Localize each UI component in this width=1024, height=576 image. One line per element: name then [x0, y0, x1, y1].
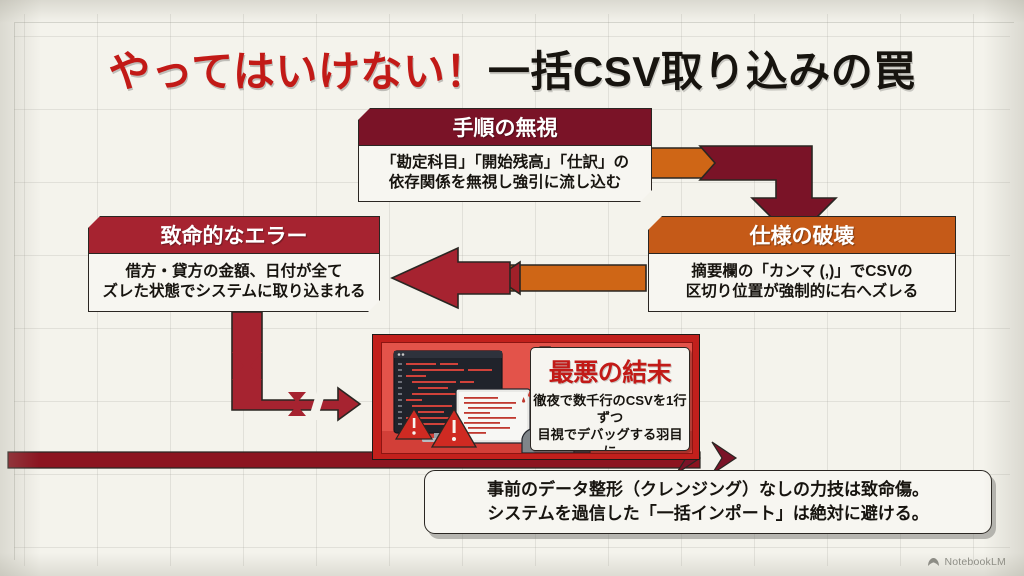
step-card-1-body: 「勘定科目」「開始残高」「仕訳」の 依存関係を無視し強引に流し込む: [359, 146, 651, 200]
summary-line2: システムを過信した「一括インポート」は絶対に避ける。: [487, 502, 929, 526]
infographic-canvas: やってはいけない！一括CSV取り込みの罠 手: [0, 0, 1024, 576]
notebooklm-watermark: NotebookLM: [927, 556, 1006, 568]
step-card-2-body-line1: 摘要欄の「カンマ (,)」でCSVの: [686, 262, 919, 282]
notebooklm-watermark-label: NotebookLM: [944, 556, 1006, 568]
step-card-2-body: 摘要欄の「カンマ (,)」でCSVの 区切り位置が強制的に右へズレる: [649, 254, 955, 310]
step-card-1-header: 手順の無視: [359, 109, 651, 146]
outcome-panel: 最悪の結末 徹夜で数千行のCSVを1行ずつ 目視でデバッグする羽目に: [372, 334, 700, 460]
page-title: やってはいけない！一括CSV取り込みの罠: [0, 38, 1024, 99]
panel-inner: 最悪の結末 徹夜で数千行のCSVを1行ずつ 目視でデバッグする羽目に: [381, 342, 693, 454]
outcome-title: 最悪の結末: [531, 353, 689, 389]
step-card-2: 仕様の破壊 摘要欄の「カンマ (,)」でCSVの 区切り位置が強制的に右へズレる: [648, 216, 956, 312]
outcome-line2: 目視でデバッグする羽目に: [531, 426, 689, 451]
step-card-3-header: 致命的なエラー: [89, 217, 379, 254]
step-card-1-body-line2: 依存関係を無視し強引に流し込む: [381, 173, 629, 193]
outcome-line1: 徹夜で数千行のCSVを1行ずつ: [531, 392, 689, 426]
step-card-3-body: 借方・貸方の金額、日付が全て ズレた状態でシステムに取り込まれる: [89, 254, 379, 310]
step-card-1: 手順の無視 「勘定科目」「開始残高」「仕訳」の 依存関係を無視し強引に流し込む: [358, 108, 652, 202]
page-title-red: やってはいけない！: [108, 48, 488, 95]
step-card-3-body-line2: ズレた状態でシステムに取り込まれる: [102, 282, 365, 302]
step-card-2-header: 仕様の破壊: [649, 217, 955, 254]
summary-line1: 事前のデータ整形（クレンジング）なしの力技は致命傷。: [487, 478, 929, 502]
outcome-callout: 最悪の結末 徹夜で数千行のCSVを1行ずつ 目視でデバッグする羽目に: [530, 347, 690, 451]
step-card-1-body-line1: 「勘定科目」「開始残高」「仕訳」の: [381, 153, 629, 173]
step-card-3-body-line1: 借方・貸方の金額、日付が全て: [102, 262, 365, 282]
step-card-3: 致命的なエラー 借方・貸方の金額、日付が全て ズレた状態でシステムに取り込まれる: [88, 216, 380, 312]
page-title-black: 一括CSV取り込みの罠: [488, 48, 916, 95]
notebooklm-icon: [927, 557, 940, 568]
step-card-2-body-line2: 区切り位置が強制的に右へズレる: [686, 282, 919, 302]
summary-box: 事前のデータ整形（クレンジング）なしの力技は致命傷。 システムを過信した「一括イ…: [424, 470, 992, 534]
